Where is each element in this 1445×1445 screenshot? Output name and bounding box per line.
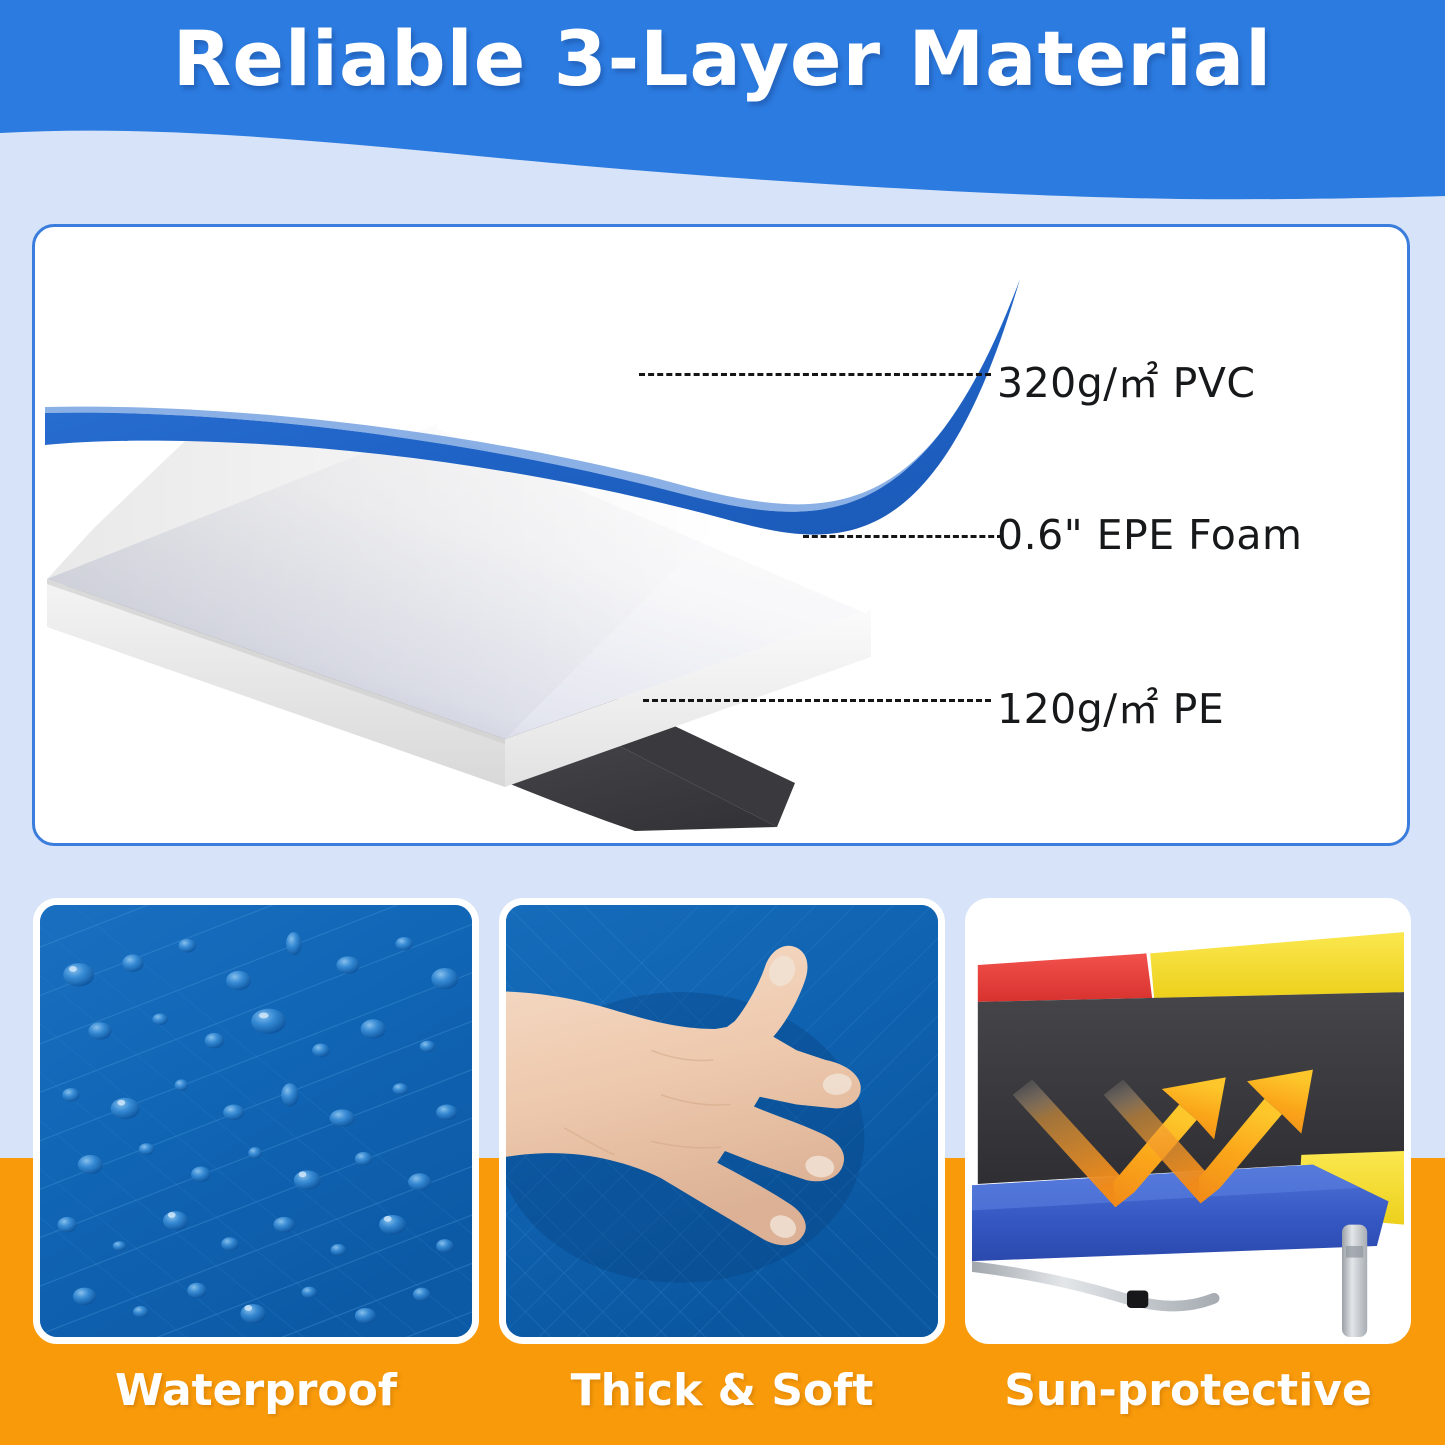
feature-card-sun-protective <box>965 898 1411 1344</box>
layer-label-epe-foam: 0.6" EPE Foam <box>997 511 1302 559</box>
layer-diagram-panel: 320g/㎡ PVC 0.6" EPE Foam 120g/㎡ PE <box>32 224 1410 846</box>
header-banner: Reliable 3-Layer Material <box>0 0 1445 210</box>
feature-card-row <box>0 898 1445 1348</box>
caption-waterproof: Waterproof <box>33 1365 479 1416</box>
infographic-page: Reliable 3-Layer Material <box>0 0 1445 1445</box>
feature-card-waterproof <box>33 898 479 1344</box>
feature-captions: Waterproof Thick & Soft Sun-protective <box>0 1365 1445 1435</box>
caption-sun-protective: Sun-protective <box>965 1365 1411 1416</box>
layer-label-pvc: 320g/㎡ PVC <box>997 349 1256 409</box>
feature-card-thick-soft <box>499 898 945 1344</box>
caption-thick-soft: Thick & Soft <box>499 1365 945 1416</box>
leader-line-foam <box>803 535 1003 538</box>
leader-line-pe <box>643 699 991 702</box>
water-droplets-image <box>40 905 472 1337</box>
trampoline-uv-arrows-image <box>972 905 1404 1337</box>
page-title: Reliable 3-Layer Material <box>0 14 1445 103</box>
leader-line-pvc <box>639 373 991 376</box>
layer-label-pe: 120g/㎡ PE <box>997 675 1224 735</box>
hand-on-mat-image <box>506 905 938 1337</box>
